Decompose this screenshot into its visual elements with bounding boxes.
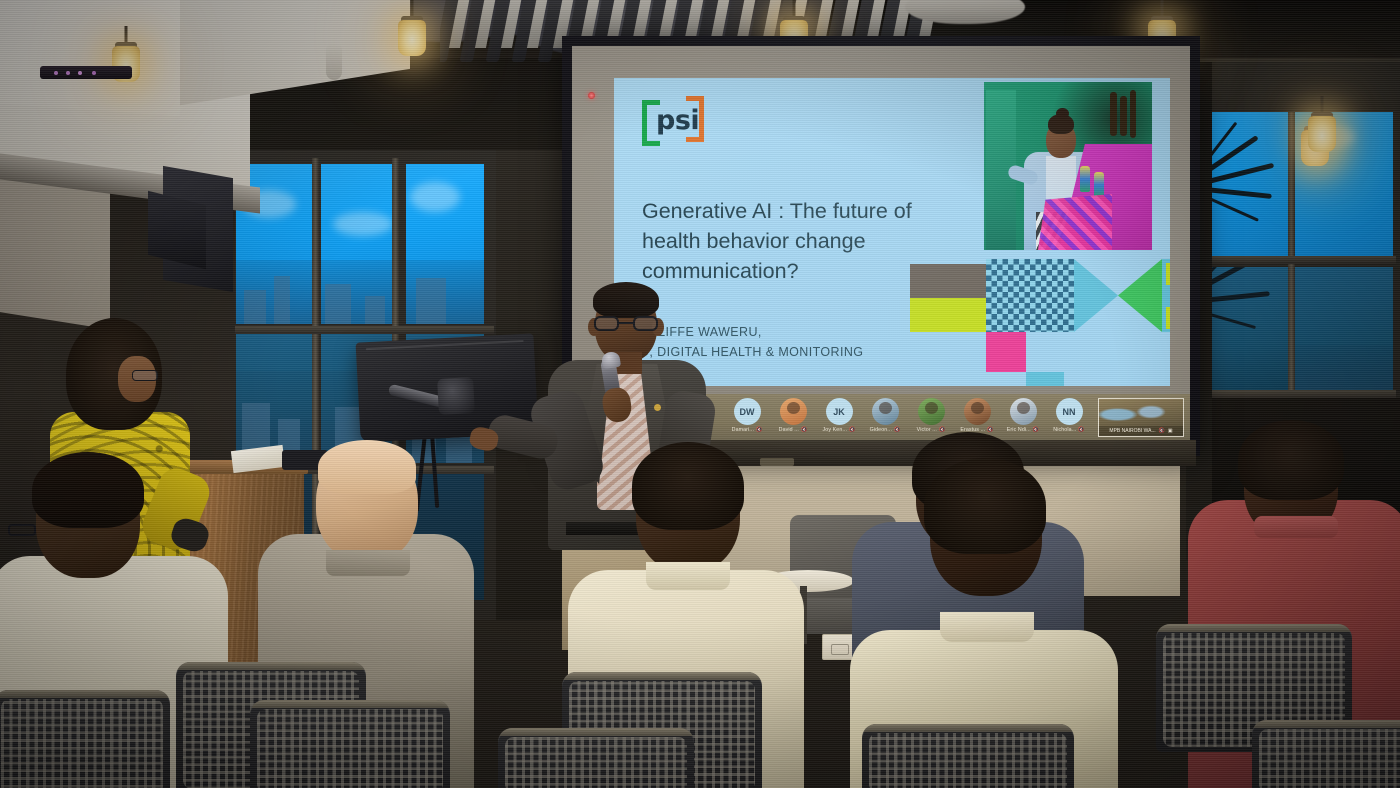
glasses-icon [8, 524, 36, 536]
chair[interactable] [862, 724, 1074, 788]
mic-muted-icon: 🔇 [1033, 427, 1039, 433]
conference-room-screenshot: psi Generative AI : The future of health… [0, 0, 1400, 788]
participant-name-row: Damari... 🔇 [732, 427, 763, 433]
window-pane [1295, 267, 1393, 397]
participant-tile[interactable]: DW Damari... 🔇 [724, 396, 770, 440]
ceiling-plane-left [0, 0, 180, 116]
chair[interactable] [1252, 720, 1400, 788]
window-pane [1202, 112, 1288, 260]
participant-name-row: Victor ... 🔇 [917, 427, 946, 433]
deco-block-pink [986, 332, 1026, 372]
collar [940, 612, 1034, 642]
avatar: DW [734, 398, 761, 425]
window-pane [1202, 267, 1288, 397]
chair[interactable] [498, 728, 694, 788]
window-pane [406, 164, 484, 324]
mic-muted-icon: 🔇 [1159, 428, 1165, 434]
participant-name-row: Nichola... 🔇 [1053, 427, 1084, 433]
avatar [918, 398, 945, 425]
lapel-pin [654, 404, 661, 411]
avatar [1010, 398, 1037, 425]
collar [326, 550, 410, 576]
deco-block-brown [910, 264, 986, 298]
participant-name: David ... [779, 427, 799, 433]
window-pane [236, 331, 314, 463]
window-pane [321, 164, 399, 324]
self-view-label: MPB NAIROBI WA... [1109, 428, 1155, 434]
deco-block-lime [910, 298, 986, 332]
mic-muted-icon: 🔇 [1078, 427, 1084, 433]
deco-block-checker [1162, 259, 1170, 332]
presentation-slide: psi Generative AI : The future of health… [614, 78, 1170, 386]
participant-tile[interactable]: David ... 🔇 [770, 396, 816, 440]
psi-logo: psi [642, 100, 704, 146]
deco-block-blue [1026, 372, 1064, 386]
camera-icon: ▣ [1168, 428, 1173, 434]
avatar [872, 398, 899, 425]
mic-muted-icon: 🔇 [801, 427, 807, 433]
psi-logo-wordmark: psi [656, 104, 696, 138]
power-led-indicator [588, 92, 595, 99]
sprinkler-head-icon [326, 44, 342, 80]
participant-name-row: Gideon... 🔇 [870, 427, 901, 433]
chair[interactable] [0, 690, 170, 788]
self-view-label-row: MPB NAIROBI WA... 🔇 ▣ [1099, 426, 1183, 436]
mic-muted-icon: 🔇 [987, 427, 993, 433]
shelf-device [760, 458, 794, 466]
participant-name: Damari... [732, 427, 754, 433]
avatar: NN [1056, 398, 1083, 425]
slide-title: Generative AI : The future of health beh… [642, 196, 942, 286]
participant-tile[interactable]: Eric Ndi... 🔇 [1000, 396, 1046, 440]
deco-block-triangle-pattern [986, 259, 1074, 332]
participant-name: Nichola... [1053, 427, 1076, 433]
participant-name: Victor ... [917, 427, 937, 433]
participant-tile[interactable]: Gideon... 🔇 [862, 396, 908, 440]
track-light-bar [40, 66, 132, 79]
bald-head-highlight [318, 440, 416, 494]
participant-name: Eric Ndi... [1007, 427, 1031, 433]
deco-block-green-triangle [1118, 259, 1162, 332]
participant-tile[interactable]: NN Nichola... 🔇 [1046, 396, 1092, 440]
participant-name: Joy Ken... [823, 427, 848, 433]
wall-outlet [822, 634, 856, 660]
slide-photo [984, 82, 1152, 250]
avatar [780, 398, 807, 425]
mic-muted-icon: 🔇 [849, 427, 855, 433]
participant-name-row: David ... 🔇 [779, 427, 808, 433]
participant-tile[interactable]: Victor ... 🔇 [908, 396, 954, 440]
mic-muted-icon: 🔇 [939, 427, 945, 433]
collar [646, 562, 730, 590]
deco-block-teal-triangle [1074, 259, 1118, 332]
chair[interactable] [250, 700, 450, 788]
participant-tile[interactable]: JK Joy Ken... 🔇 [816, 396, 862, 440]
self-view-thumbnail[interactable]: MPB NAIROBI WA... 🔇 ▣ [1098, 398, 1184, 437]
mic-muted-icon: 🔇 [756, 427, 762, 433]
slide-presenter-role: D, DIGITAL HEALTH & MONITORING [640, 342, 960, 362]
mic-muted-icon: 🔇 [894, 427, 900, 433]
participant-name-row: Eric Ndi... 🔇 [1007, 427, 1039, 433]
avatar [964, 398, 991, 425]
fleece-collar [1254, 516, 1338, 538]
participant-name-row: Joy Ken... 🔇 [823, 427, 856, 433]
glasses-icon [132, 370, 158, 381]
avatar: JK [826, 398, 853, 425]
glasses-icon [594, 316, 658, 331]
participant-name: Gideon... [870, 427, 892, 433]
monitor-mount-hub [437, 377, 475, 415]
